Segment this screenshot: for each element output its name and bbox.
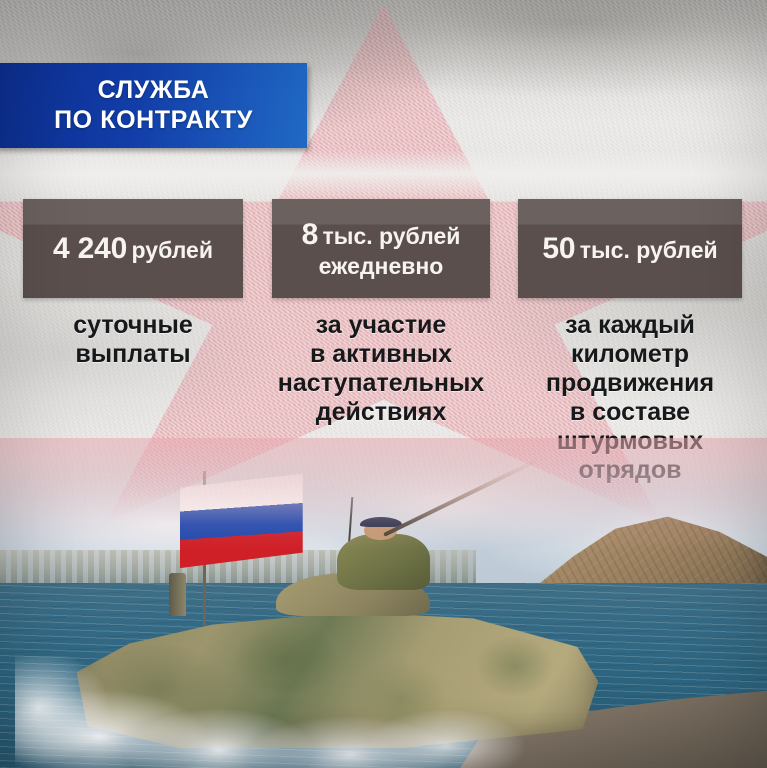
payment-card-offensive-frequency: ежедневно [302,253,461,280]
banner-line-2: ПО КОНТРАКТУ [54,106,253,136]
payment-card-daily-unit: рублей [132,237,213,263]
caption-offensive-line-1: за участие [262,311,500,340]
caption-daily-line-1: суточные [23,311,243,340]
caption-kilometer-line-3: продвижения [512,369,748,398]
payment-card-daily-amount: 4 240 [53,232,127,265]
payment-card-offensive-unit: тыс. рублей [323,223,461,249]
russian-flag-icon [180,473,303,567]
caption-kilometer-line-1: за каждый [512,311,748,340]
caption-kilometer-line-2: километр [512,340,748,369]
caption-offensive-line-2: в активных [262,340,500,369]
photograph-fade-mask [0,438,767,768]
exhaust-snorkel [169,573,186,616]
payment-card-offensive: 8 тыс. рублей ежедневно [272,199,490,298]
caption-kilometer-line-4: в составе [512,398,748,427]
payment-card-offensive-text: 8 тыс. рублей ежедневно [296,217,467,281]
payment-card-kilometer-text: 50 тыс. рублей [536,231,723,266]
recruitment-poster: СЛУЖБА ПО КОНТРАКТУ 4 240 рублей 8 тыс. … [0,0,767,768]
water-foam-spray [15,656,613,768]
payment-card-daily: 4 240 рублей [23,199,243,298]
payment-card-kilometer-amount: 50 [542,232,575,265]
military-photograph [0,438,767,768]
service-by-contract-banner: СЛУЖБА ПО КОНТРАКТУ [0,63,307,148]
payment-card-offensive-amount: 8 [302,218,319,251]
payment-card-kilometer: 50 тыс. рублей [518,199,742,298]
soldier-icon [337,534,429,590]
caption-daily: суточные выплаты [23,311,243,369]
payment-card-kilometer-unit: тыс. рублей [580,237,718,263]
banner-line-1: СЛУЖБА [98,76,210,106]
payment-cards-row: 4 240 рублей 8 тыс. рублей ежедневно 50 … [0,199,767,299]
caption-offensive: за участие в активных наступательных дей… [262,311,500,427]
caption-offensive-line-3: наступательных [262,369,500,398]
payment-card-daily-text: 4 240 рублей [47,231,219,266]
caption-daily-line-2: выплаты [23,340,243,369]
caption-offensive-line-4: действиях [262,398,500,427]
